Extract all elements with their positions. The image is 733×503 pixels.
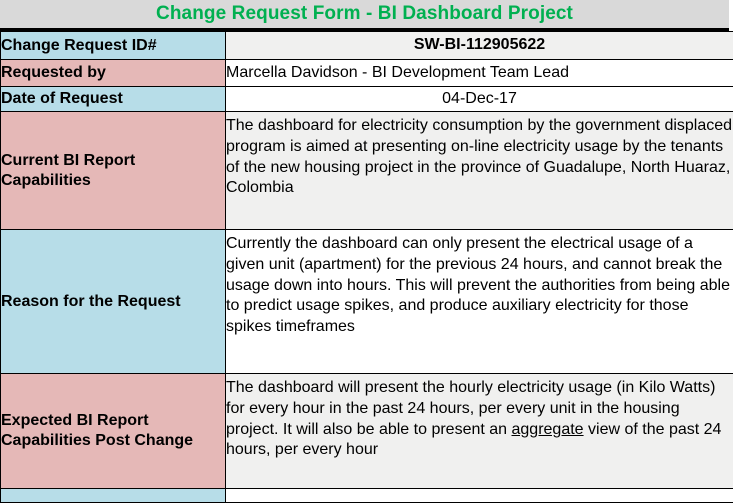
- field-value-reason-for-the-request[interactable]: Currently the dashboard can only present…: [226, 230, 733, 374]
- field-value-date-of-request[interactable]: 04-Dec-17: [226, 87, 733, 112]
- table-row: Expected BI Report Capabilities Post Cha…: [1, 374, 733, 489]
- change-request-form-sheet: Change Request Form - BI Dashboard Proje…: [0, 0, 733, 501]
- table-row: Current BI Report Capabilities The dashb…: [1, 112, 733, 230]
- field-value-next-row-partial[interactable]: [226, 489, 733, 503]
- table-row: Reason for the Request Currently the das…: [1, 230, 733, 374]
- field-label-expected-bi-report-capabilities-post-change: Expected BI Report Capabilities Post Cha…: [1, 374, 226, 489]
- field-value-change-request-id[interactable]: SW-BI-112905622: [226, 32, 733, 60]
- change-request-table: Change Request ID# SW-BI-112905622 Reque…: [0, 31, 733, 503]
- field-label-date-of-request: Date of Request: [1, 87, 226, 112]
- field-label-requested-by: Requested by: [1, 60, 226, 87]
- field-label-current-bi-report-capabilities: Current BI Report Capabilities: [1, 112, 226, 230]
- table-row: Change Request ID# SW-BI-112905622: [1, 32, 733, 60]
- field-value-requested-by[interactable]: Marcella Davidson - BI Development Team …: [226, 60, 733, 87]
- expected-text-underlined-aggregate: aggregate: [512, 421, 584, 438]
- table-row: Date of Request 04-Dec-17: [1, 87, 733, 112]
- field-label-reason-for-the-request: Reason for the Request: [1, 230, 226, 374]
- field-label-change-request-id: Change Request ID#: [1, 32, 226, 60]
- table-row: Requested by Marcella Davidson - BI Deve…: [1, 60, 733, 87]
- field-label-next-row-partial: [1, 489, 226, 503]
- field-value-current-bi-report-capabilities[interactable]: The dashboard for electricity consumptio…: [226, 112, 733, 230]
- form-title-banner: Change Request Form - BI Dashboard Proje…: [0, 0, 729, 31]
- table-row: [1, 489, 733, 503]
- field-value-expected-bi-report-capabilities-post-change[interactable]: The dashboard will present the hourly el…: [226, 374, 733, 489]
- page-title: Change Request Form - BI Dashboard Proje…: [156, 3, 573, 25]
